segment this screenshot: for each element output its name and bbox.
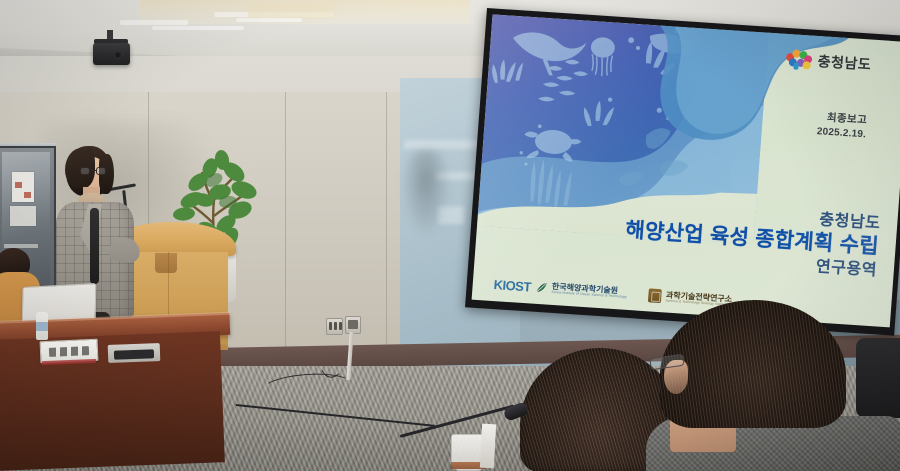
cabinet-document bbox=[10, 206, 36, 226]
kiost-leaf-icon bbox=[534, 281, 548, 295]
glasses-lens-right bbox=[96, 167, 106, 175]
cabinet-document-accent bbox=[15, 182, 22, 188]
province-logo-mark-icon bbox=[785, 49, 812, 71]
presenter-glasses-icon bbox=[80, 167, 106, 176]
report-date: 2025.2.19. bbox=[816, 125, 866, 142]
slide-title-block: 충청남도 해양산업 육성 종합계획 수립 연구용역 bbox=[623, 197, 881, 280]
glass-silhouette-reflection bbox=[402, 150, 450, 236]
report-meta: 최종보고 2025.2.19. bbox=[816, 111, 867, 142]
conference-room-photo: 충청남도 최종보고 2025.2.19. 충청남도 해양산업 육성 종합계획 수… bbox=[0, 0, 900, 471]
ceiling-tile bbox=[236, 18, 302, 22]
data-port-slot bbox=[348, 320, 358, 329]
ceiling-projector bbox=[93, 43, 130, 65]
outlet-slot bbox=[339, 322, 342, 330]
projection-screen: 충청남도 최종보고 2025.2.19. 충청남도 해양산업 육성 종합계획 수… bbox=[464, 8, 900, 346]
glasses-bridge bbox=[90, 170, 96, 171]
wall-seam bbox=[386, 92, 387, 360]
audience-member-front-right bbox=[642, 300, 900, 471]
presenter-arm bbox=[108, 236, 142, 265]
kiost-korean-name: 한국해양과학기술원 Korea Institute of Ocean Scien… bbox=[551, 283, 627, 300]
screen-frame: 충청남도 최종보고 2025.2.19. 충청남도 해양산업 육성 종합계획 수… bbox=[465, 8, 900, 336]
presentation-slide: 충청남도 최종보고 2025.2.19. 충청남도 해양산업 육성 종합계획 수… bbox=[472, 14, 900, 327]
ceiling-light bbox=[248, 4, 334, 18]
cabinet-document-accent bbox=[24, 192, 31, 198]
folded-card bbox=[480, 424, 496, 469]
outlet-slot bbox=[334, 322, 337, 330]
chungnam-province-logo: 충청남도 bbox=[785, 49, 872, 75]
presenter-scarf bbox=[90, 208, 99, 284]
water-bottle-label bbox=[36, 322, 48, 331]
nameplate-text bbox=[49, 346, 89, 357]
outlet-slot bbox=[329, 322, 332, 330]
ceiling-tile bbox=[152, 26, 244, 30]
wall-seam bbox=[285, 92, 286, 360]
glasses-lens-left bbox=[80, 167, 90, 175]
conference-unit-panel bbox=[114, 349, 154, 359]
projector-lens-icon bbox=[114, 51, 122, 59]
kiost-logo: KIOST 한국해양과학기술원 Korea Institute of Ocean… bbox=[493, 277, 627, 301]
kiost-wordmark: KIOST bbox=[493, 277, 531, 294]
ceiling-tile bbox=[120, 20, 188, 25]
audience-right-hair bbox=[660, 300, 846, 428]
province-logo-text: 충청남도 bbox=[817, 51, 872, 74]
